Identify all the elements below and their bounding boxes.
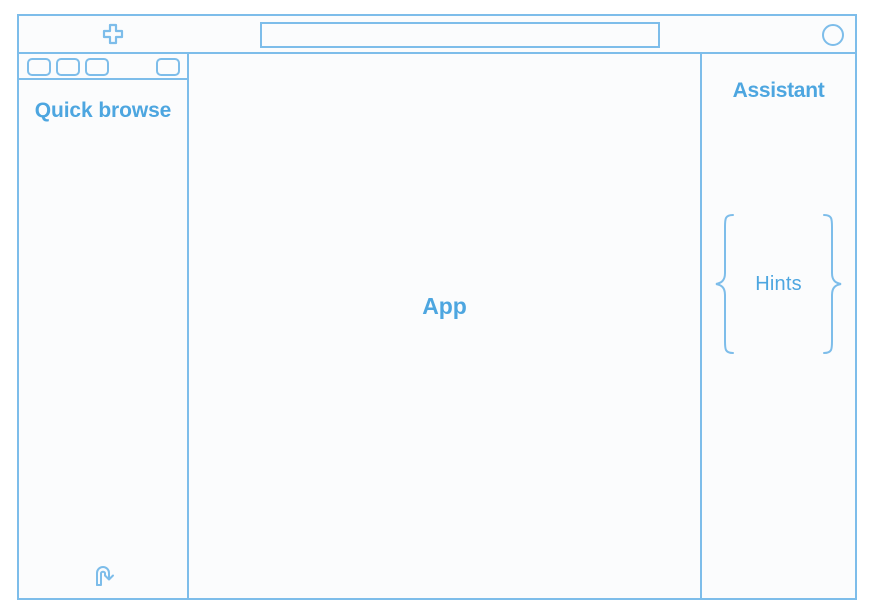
- hints-label: Hints: [755, 273, 802, 296]
- app-window-frame: Quick browse App Assistant: [17, 14, 857, 600]
- app-content-label: App: [422, 293, 466, 320]
- sidebar-toolbar-button-1[interactable]: [27, 58, 51, 76]
- hints-group: Hints: [713, 213, 844, 355]
- sidebar-toolbar-button-3[interactable]: [85, 58, 109, 76]
- assistant-panel: Assistant Hints: [702, 54, 855, 598]
- right-curly-brace-icon: [820, 213, 844, 355]
- sidebar-toolbar-button-4[interactable]: [156, 58, 180, 76]
- u-turn-arrow-icon[interactable]: [88, 560, 118, 590]
- sidebar-toolbar-button-2[interactable]: [56, 58, 80, 76]
- top-bar: [19, 16, 855, 54]
- assistant-title: Assistant: [702, 79, 855, 103]
- search-input[interactable]: [260, 22, 660, 48]
- sidebar-toolbar: [19, 54, 187, 80]
- avatar[interactable]: [822, 24, 844, 46]
- plus-icon: [100, 23, 126, 47]
- sidebar-title: Quick browse: [19, 98, 187, 125]
- add-button[interactable]: [99, 22, 127, 48]
- left-curly-brace-icon: [713, 213, 737, 355]
- sidebar-footer: [19, 560, 187, 590]
- sidebar-panel: Quick browse: [19, 54, 189, 598]
- app-content-panel[interactable]: App: [189, 54, 702, 598]
- main-body: Quick browse App Assistant: [19, 54, 855, 598]
